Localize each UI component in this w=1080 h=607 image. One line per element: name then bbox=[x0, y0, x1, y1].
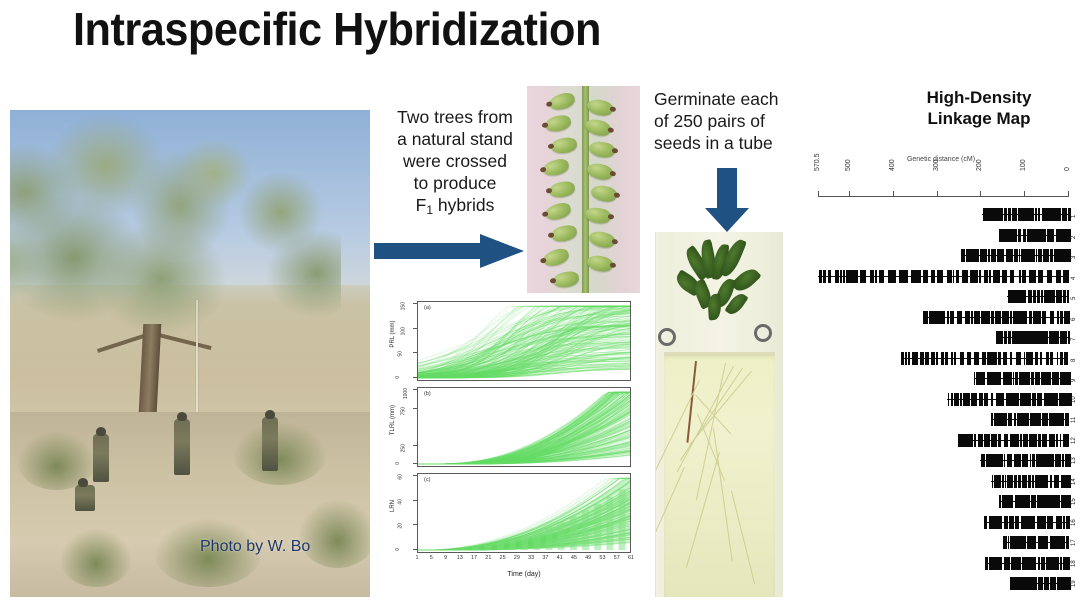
poplar-field-photo bbox=[10, 110, 370, 597]
researcher bbox=[262, 417, 278, 471]
genetic-marker bbox=[984, 311, 986, 324]
arrow-right-glyph bbox=[374, 234, 524, 268]
y-axis-tick-mark bbox=[413, 328, 417, 329]
y-axis-tick-label: 40 bbox=[398, 499, 404, 505]
linkage-group-number: 14 bbox=[1071, 478, 1077, 485]
genetic-marker bbox=[994, 249, 996, 262]
linkage-group-row: 1 bbox=[806, 208, 1076, 221]
genetic-marker bbox=[1020, 434, 1022, 447]
linkage-group-row: 6 bbox=[806, 311, 1076, 324]
shrub bbox=[233, 422, 327, 485]
genetic-marker bbox=[1046, 352, 1048, 365]
axis-tick-mark bbox=[1068, 191, 1069, 197]
genetic-marker bbox=[941, 352, 944, 365]
genetic-marker bbox=[1053, 229, 1055, 242]
arrow-right-icon bbox=[374, 234, 524, 268]
genetic-marker bbox=[893, 270, 895, 283]
genetic-marker bbox=[1017, 434, 1019, 447]
panel-b-curves bbox=[418, 388, 630, 466]
genetic-marker bbox=[1042, 208, 1043, 221]
axis-tick-label: 500 bbox=[845, 159, 852, 171]
genetic-marker bbox=[971, 311, 973, 324]
seed-capsule bbox=[588, 140, 616, 159]
genetic-marker bbox=[1018, 454, 1021, 467]
step2-line1: Germinate each bbox=[654, 88, 806, 110]
genetic-marker bbox=[1068, 434, 1069, 447]
x-axis-tick-label: 5 bbox=[430, 555, 433, 561]
seed-capsule bbox=[586, 253, 615, 273]
genetic-marker bbox=[1038, 208, 1040, 221]
genetic-marker bbox=[1044, 229, 1046, 242]
genetic-marker bbox=[1066, 352, 1068, 365]
genetic-marker bbox=[946, 352, 948, 365]
genetic-marker bbox=[1015, 249, 1017, 262]
y-axis-tick-mark bbox=[413, 408, 417, 409]
linkage-group-number: 18 bbox=[1071, 560, 1077, 567]
linkage-group-number: 1 bbox=[1071, 215, 1077, 218]
genetic-marker bbox=[968, 393, 970, 406]
genetic-marker bbox=[961, 249, 962, 262]
linkage-group-number: 15 bbox=[1071, 498, 1077, 505]
genetic-marker bbox=[1044, 434, 1047, 447]
linkage-group-number: 11 bbox=[1071, 417, 1077, 423]
step-text-crossing: Two trees from a natural stand were cros… bbox=[384, 106, 526, 218]
genetic-marker bbox=[956, 270, 958, 283]
genetic-marker bbox=[981, 393, 983, 406]
genetic-marker bbox=[1005, 536, 1007, 549]
step2-line3: seeds in a tube bbox=[654, 132, 806, 154]
genetic-marker bbox=[1002, 208, 1004, 221]
genetic-marker bbox=[905, 270, 907, 283]
genetic-marker bbox=[1001, 331, 1002, 344]
seed-capsule bbox=[586, 161, 615, 182]
genetic-marker bbox=[1053, 434, 1054, 447]
linkage-group-row: 12 bbox=[806, 434, 1076, 447]
chart-x-axis-label: Time (day) bbox=[417, 571, 631, 578]
genetic-marker bbox=[1030, 290, 1032, 303]
axis-tick-mark bbox=[818, 191, 819, 197]
genetic-marker bbox=[1001, 454, 1003, 467]
linkage-group-number: 7 bbox=[1071, 338, 1077, 341]
linkage-group-number: 10 bbox=[1071, 396, 1077, 403]
genetic-marker bbox=[1018, 516, 1019, 529]
linkage-group-number: 8 bbox=[1071, 358, 1077, 361]
seed-capsule bbox=[541, 246, 570, 268]
genetic-marker bbox=[965, 270, 967, 283]
genetic-marker bbox=[1037, 372, 1040, 385]
genetic-marker bbox=[1064, 290, 1066, 303]
genetic-marker bbox=[1031, 372, 1034, 385]
researcher bbox=[93, 434, 109, 482]
genetic-distance-axis-line bbox=[818, 196, 1068, 197]
genetic-marker bbox=[1052, 311, 1054, 324]
axis-tick-mark bbox=[1024, 191, 1025, 197]
linkage-group-number: 19 bbox=[1071, 580, 1077, 587]
linkage-group-number: 4 bbox=[1071, 276, 1077, 279]
genetic-marker bbox=[954, 352, 956, 365]
linkage-group-row: 9 bbox=[806, 372, 1076, 385]
axis-tick-mark bbox=[980, 191, 981, 197]
genetic-marker bbox=[1000, 516, 1002, 529]
genetic-marker bbox=[1014, 413, 1016, 426]
genetic-marker bbox=[1060, 557, 1062, 570]
genetic-marker bbox=[1033, 495, 1035, 508]
genetic-marker bbox=[942, 311, 945, 324]
genetic-marker bbox=[1028, 372, 1030, 385]
genetic-marker bbox=[1029, 311, 1032, 324]
x-axis-tick-label: 9 bbox=[444, 555, 447, 561]
axis-tick-mark bbox=[893, 191, 894, 197]
genetic-marker bbox=[1020, 229, 1021, 242]
linkage-group-number: 12 bbox=[1071, 437, 1077, 444]
y-axis-label: LRN bbox=[390, 476, 396, 536]
tube-clip bbox=[754, 324, 772, 342]
genetic-marker bbox=[992, 393, 993, 406]
genetic-marker bbox=[1016, 475, 1018, 488]
genetic-marker bbox=[1004, 208, 1007, 221]
genetic-marker bbox=[947, 311, 948, 324]
genetic-marker bbox=[988, 249, 990, 262]
genetic-marker bbox=[1033, 434, 1037, 447]
y-axis-tick-label: 0 bbox=[395, 548, 401, 551]
genetic-marker bbox=[1033, 393, 1036, 406]
chart-panel-c: (c) bbox=[417, 473, 631, 553]
y-axis-tick-mark bbox=[413, 303, 417, 304]
x-axis-tick-label: 17 bbox=[471, 555, 477, 561]
step-text-germinate: Germinate each of 250 pairs of seeds in … bbox=[654, 88, 806, 154]
genetic-marker bbox=[1009, 372, 1012, 385]
genetic-marker bbox=[1004, 352, 1006, 365]
genetic-marker bbox=[948, 393, 949, 406]
x-axis-tick-label: 33 bbox=[528, 555, 534, 561]
genetic-marker bbox=[835, 270, 838, 283]
y-axis-tick-mark bbox=[413, 352, 417, 353]
genetic-marker bbox=[998, 270, 1001, 283]
genetic-marker bbox=[911, 270, 913, 283]
seed-capsule bbox=[548, 180, 576, 199]
linkage-group-row: 15 bbox=[806, 495, 1076, 508]
genetic-marker bbox=[974, 393, 977, 406]
genetic-marker bbox=[960, 393, 963, 406]
genetic-marker bbox=[1068, 311, 1069, 324]
genetic-marker bbox=[1029, 495, 1030, 508]
y-axis-tick-mark bbox=[413, 524, 417, 525]
genetic-marker bbox=[1023, 208, 1024, 221]
linkage-group-row: 19 bbox=[806, 577, 1076, 590]
genetic-marker bbox=[1051, 249, 1053, 262]
genetic-marker bbox=[1041, 290, 1043, 303]
linkage-group-number: 6 bbox=[1071, 317, 1077, 320]
genetic-marker bbox=[986, 270, 988, 283]
tube-clip bbox=[658, 328, 676, 346]
genetic-marker bbox=[925, 311, 929, 324]
genetic-marker bbox=[1068, 516, 1070, 529]
genetic-marker bbox=[1067, 413, 1069, 426]
step1-line4: to produce bbox=[384, 172, 526, 194]
lateral-root bbox=[686, 452, 720, 568]
genetic-marker bbox=[881, 270, 883, 283]
genetic-marker bbox=[1057, 311, 1059, 324]
y-axis-tick-label: 20 bbox=[398, 523, 404, 529]
arrow-down-glyph bbox=[705, 168, 749, 232]
x-axis-tick-label: 49 bbox=[585, 555, 591, 561]
genetic-marker bbox=[1046, 249, 1048, 262]
linkage-group-row: 13 bbox=[806, 454, 1076, 467]
y-axis-tick-mark bbox=[413, 549, 417, 550]
linkage-group-row: 17 bbox=[806, 536, 1076, 549]
y-axis-tick-mark bbox=[413, 500, 417, 501]
genetic-marker bbox=[1002, 270, 1005, 283]
genetic-marker bbox=[1004, 372, 1006, 385]
genetic-marker bbox=[977, 249, 979, 262]
x-axis-tick-label: 53 bbox=[599, 555, 605, 561]
linkage-group-number: 9 bbox=[1071, 379, 1077, 382]
shrub bbox=[298, 500, 370, 568]
genetic-marker bbox=[1034, 454, 1036, 467]
x-axis-tick-label: 61 bbox=[628, 555, 634, 561]
genetic-marker bbox=[952, 311, 954, 324]
y-axis-tick-label: 100 bbox=[400, 327, 406, 335]
genetic-marker bbox=[863, 270, 866, 283]
genetic-marker bbox=[991, 413, 992, 426]
seed-capsule bbox=[547, 91, 576, 113]
chart-panel-a: (a) bbox=[417, 301, 631, 381]
y-axis-tick-label: 50 bbox=[398, 351, 404, 357]
y-axis-tick-label: 1000 bbox=[403, 388, 409, 399]
genetic-marker bbox=[967, 434, 969, 447]
genetic-marker bbox=[1040, 249, 1042, 262]
genetic-marker bbox=[976, 352, 979, 365]
genetic-marker bbox=[1043, 516, 1046, 529]
genetic-marker bbox=[1043, 557, 1045, 570]
x-axis-tick-label: 57 bbox=[614, 555, 620, 561]
genetic-marker bbox=[1002, 475, 1003, 488]
linkage-group-row: 8 bbox=[806, 352, 1076, 365]
y-axis-tick-mark bbox=[413, 475, 417, 476]
genetic-marker bbox=[975, 270, 978, 283]
genetic-marker bbox=[913, 270, 916, 283]
step1-line3: were crossed bbox=[384, 150, 526, 172]
genetic-marker bbox=[1033, 516, 1035, 529]
genetic-marker bbox=[1060, 454, 1061, 467]
seed-capsule bbox=[552, 270, 580, 289]
genetic-marker bbox=[969, 352, 971, 365]
seed-capsule bbox=[550, 136, 578, 154]
x-axis-tick-label: 37 bbox=[542, 555, 548, 561]
genetic-marker bbox=[932, 270, 935, 283]
axis-tick-label: 100 bbox=[1020, 159, 1027, 171]
chart-panel-b: (b) bbox=[417, 387, 631, 467]
axis-tick-mark bbox=[937, 191, 938, 197]
genetic-marker bbox=[1011, 413, 1012, 426]
genetic-marker bbox=[1018, 208, 1020, 221]
genetic-marker bbox=[871, 270, 874, 283]
y-axis-tick-mark bbox=[413, 445, 417, 446]
genetic-marker bbox=[1056, 331, 1058, 344]
genetic-marker bbox=[1038, 270, 1041, 283]
linkage-group-row: 11 bbox=[806, 413, 1076, 426]
genetic-marker bbox=[1057, 393, 1058, 406]
genetic-marker bbox=[1059, 270, 1061, 283]
axis-tick-mark bbox=[849, 191, 850, 197]
genetic-marker bbox=[1001, 557, 1003, 570]
linkage-group-row: 2 bbox=[806, 229, 1076, 242]
linkage-group-number: 3 bbox=[1071, 256, 1077, 259]
genetic-marker bbox=[989, 270, 991, 283]
lateral-root bbox=[655, 380, 700, 480]
genetic-marker bbox=[1058, 475, 1059, 488]
linkage-group-row: 4 bbox=[806, 270, 1076, 283]
genetic-marker bbox=[936, 352, 938, 365]
x-axis-tick-label: 45 bbox=[571, 555, 577, 561]
genetic-marker bbox=[1008, 557, 1010, 570]
linkage-group-number: 2 bbox=[1071, 235, 1077, 238]
genetic-marker bbox=[1005, 434, 1008, 447]
genetic-marker bbox=[1011, 454, 1012, 467]
genetic-marker bbox=[984, 372, 986, 385]
genetic-marker bbox=[1047, 577, 1049, 590]
genetic-marker bbox=[1046, 413, 1047, 426]
genetic-marker bbox=[1024, 536, 1025, 549]
x-axis-tick-label: 41 bbox=[557, 555, 563, 561]
genetic-marker bbox=[999, 434, 1001, 447]
genetic-marker bbox=[987, 434, 990, 447]
genetic-marker bbox=[1062, 454, 1064, 467]
linkage-group-row: 5 bbox=[806, 290, 1076, 303]
genetic-marker bbox=[1005, 413, 1007, 426]
genetic-marker bbox=[1025, 434, 1028, 447]
y-axis-label: PRL (mm) bbox=[390, 304, 396, 364]
seedling-tube-photo bbox=[655, 232, 783, 597]
genetic-marker bbox=[1060, 434, 1062, 447]
researcher-crouching bbox=[75, 485, 95, 511]
genetic-marker bbox=[1064, 393, 1065, 406]
genetic-marker bbox=[1004, 454, 1005, 467]
genetic-marker bbox=[1030, 352, 1032, 365]
genetic-marker bbox=[999, 372, 1001, 385]
genetic-marker bbox=[912, 352, 914, 365]
genetic-marker bbox=[986, 393, 987, 406]
genetic-marker bbox=[1058, 495, 1060, 508]
axis-tick-label: 200 bbox=[976, 159, 983, 171]
lateral-root bbox=[731, 491, 755, 585]
genetic-marker bbox=[1020, 557, 1022, 570]
genetic-marker bbox=[985, 352, 986, 365]
y-axis-tick-label: 0 bbox=[395, 462, 401, 465]
linkage-map-panel: Genetic distance (cM) 570.55004003002001… bbox=[806, 150, 1076, 597]
genetic-marker bbox=[1067, 557, 1070, 570]
x-axis-tick-label: 1 bbox=[415, 555, 418, 561]
genetic-marker bbox=[1024, 311, 1027, 324]
genetic-marker bbox=[963, 249, 964, 262]
axis-tick-label: 570.5 bbox=[814, 153, 821, 171]
genetic-marker bbox=[1012, 475, 1014, 488]
genetic-marker bbox=[981, 311, 984, 324]
genetic-marker bbox=[1056, 290, 1059, 303]
arrow-down-icon bbox=[705, 168, 749, 232]
genetic-marker bbox=[1006, 516, 1008, 529]
linkage-group-number: 17 bbox=[1071, 539, 1077, 546]
genetic-marker bbox=[915, 352, 918, 365]
genetic-marker bbox=[920, 352, 924, 365]
genetic-marker bbox=[986, 557, 988, 570]
genetic-marker bbox=[840, 270, 843, 283]
genetic-marker bbox=[962, 352, 964, 365]
genetic-marker bbox=[1035, 557, 1037, 570]
genetic-marker bbox=[1012, 495, 1013, 508]
linkage-group-number: 16 bbox=[1071, 519, 1077, 526]
genetic-marker bbox=[1043, 311, 1046, 324]
genetic-marker bbox=[1057, 372, 1059, 385]
genetic-marker bbox=[1011, 270, 1012, 283]
f1-symbol: F bbox=[416, 195, 427, 215]
genetic-marker bbox=[933, 352, 935, 365]
genetic-marker bbox=[970, 434, 973, 447]
researcher bbox=[174, 419, 190, 475]
genetic-marker bbox=[1002, 249, 1003, 262]
genetic-marker bbox=[846, 270, 850, 283]
genetic-marker bbox=[1041, 270, 1042, 283]
genetic-marker bbox=[1027, 352, 1029, 365]
y-axis-tick-label: 60 bbox=[398, 474, 404, 480]
genetic-marker bbox=[991, 311, 994, 324]
genetic-marker bbox=[1062, 393, 1064, 406]
y-axis-tick-label: 150 bbox=[400, 302, 406, 310]
genetic-marker bbox=[1065, 208, 1067, 221]
axis-tick-label: 400 bbox=[889, 159, 896, 171]
y-axis-tick-label: 250 bbox=[400, 444, 406, 452]
genetic-marker bbox=[853, 270, 856, 283]
genetic-marker bbox=[956, 393, 958, 406]
genetic-marker bbox=[949, 270, 952, 283]
genetic-marker bbox=[1055, 413, 1057, 426]
genetic-marker bbox=[823, 270, 826, 283]
genetic-marker bbox=[1039, 413, 1041, 426]
genetic-marker bbox=[908, 352, 910, 365]
genetic-marker bbox=[953, 270, 955, 283]
linkage-group-row: 16 bbox=[806, 516, 1076, 529]
genetic-marker bbox=[899, 270, 901, 283]
genetic-marker bbox=[1010, 311, 1013, 324]
genetic-marker bbox=[1029, 393, 1031, 406]
genetic-marker bbox=[1050, 352, 1052, 365]
genetic-marker bbox=[1033, 249, 1035, 262]
linkage-group-row: 3 bbox=[806, 249, 1076, 262]
genetic-marker bbox=[997, 557, 999, 570]
linkage-group-number: 5 bbox=[1071, 297, 1077, 300]
genetic-marker bbox=[1050, 475, 1051, 488]
genetic-marker bbox=[1010, 352, 1012, 365]
genetic-marker bbox=[1056, 434, 1059, 447]
step1-line2: a natural stand bbox=[384, 128, 526, 150]
panel-c-curves bbox=[418, 474, 630, 552]
genetic-marker bbox=[1016, 372, 1018, 385]
seed-capsule bbox=[586, 97, 615, 117]
seed-capsule bbox=[543, 201, 572, 223]
genetic-marker bbox=[1068, 290, 1069, 303]
axis-tick-label: 0 bbox=[1064, 167, 1071, 171]
genetic-marker bbox=[1063, 413, 1064, 426]
genetic-marker bbox=[1034, 536, 1035, 549]
slide-root: Intraspecific Hybridization Photo by W. … bbox=[0, 0, 1080, 607]
genetic-marker bbox=[1020, 475, 1021, 488]
genetic-marker bbox=[1038, 557, 1040, 570]
genetic-marker bbox=[1015, 516, 1017, 529]
gel-medium bbox=[664, 356, 776, 597]
genetic-marker bbox=[987, 372, 988, 385]
axis-tick-label: 300 bbox=[933, 159, 940, 171]
genetic-marker bbox=[1028, 413, 1029, 426]
